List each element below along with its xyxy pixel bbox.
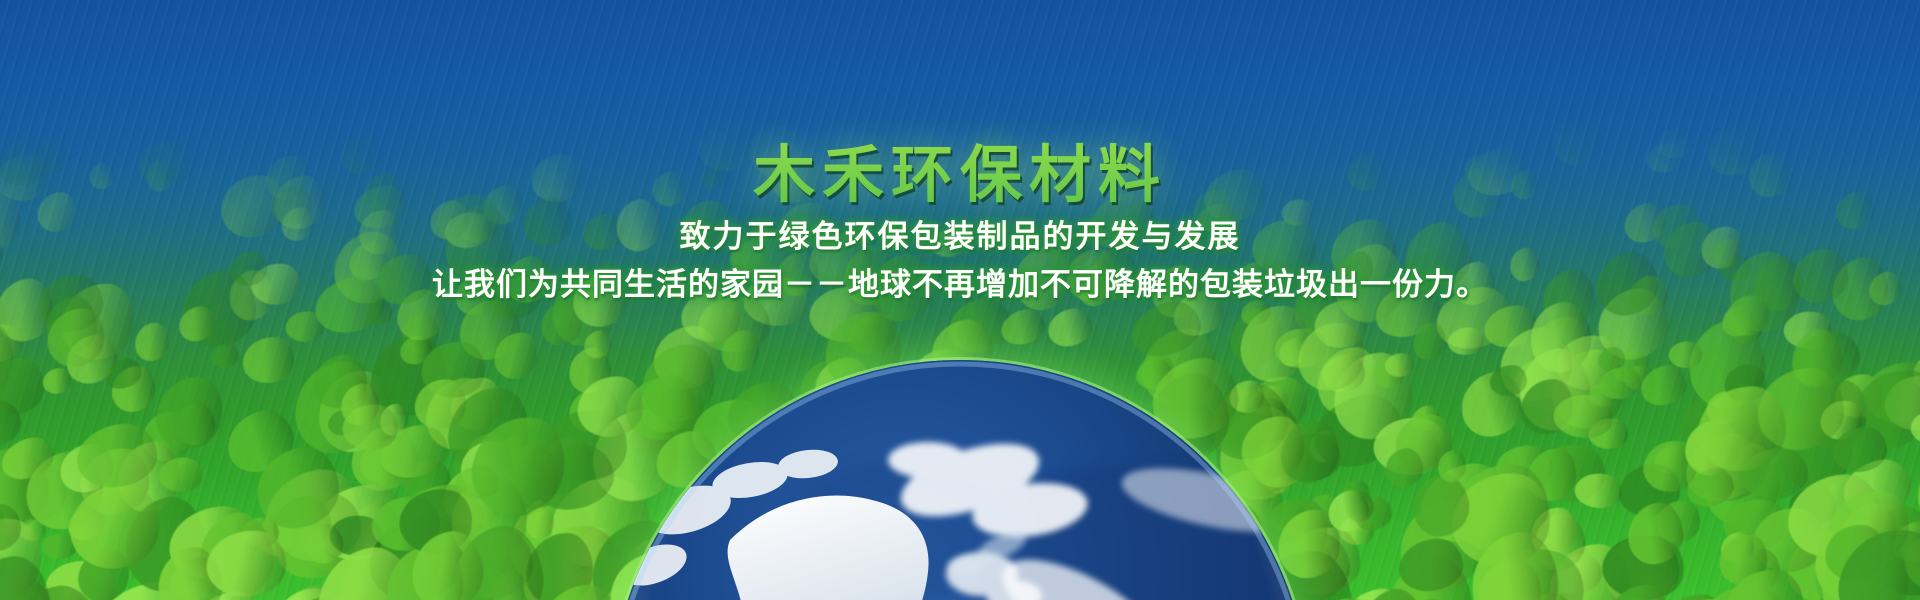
banner-tagline: 让我们为共同生活的家园－－地球不再增加不可降解的包装垃圾出一份力。 bbox=[0, 266, 1920, 305]
clover-leaf-shape bbox=[210, 343, 239, 369]
clover-leaf-shape bbox=[1046, 306, 1095, 349]
earth-globe-image bbox=[610, 360, 1310, 600]
banner-subtitle: 致力于绿色环保包装制品的开发与发展 bbox=[0, 218, 1920, 257]
eco-materials-hero-banner: 木禾环保材料 致力于绿色环保包装制品的开发与发展 让我们为共同生活的家园－－地球… bbox=[0, 0, 1920, 600]
clover-leaf-shape bbox=[243, 336, 295, 384]
page-title: 木禾环保材料 bbox=[0, 0, 1920, 208]
clover-leaf-shape bbox=[0, 553, 54, 600]
banner-text-block: 木禾环保材料 致力于绿色环保包装制品的开发与发展 让我们为共同生活的家园－－地球… bbox=[0, 0, 1920, 305]
clover-leaf-shape bbox=[134, 322, 170, 362]
clover-leaf-shape bbox=[42, 367, 72, 395]
